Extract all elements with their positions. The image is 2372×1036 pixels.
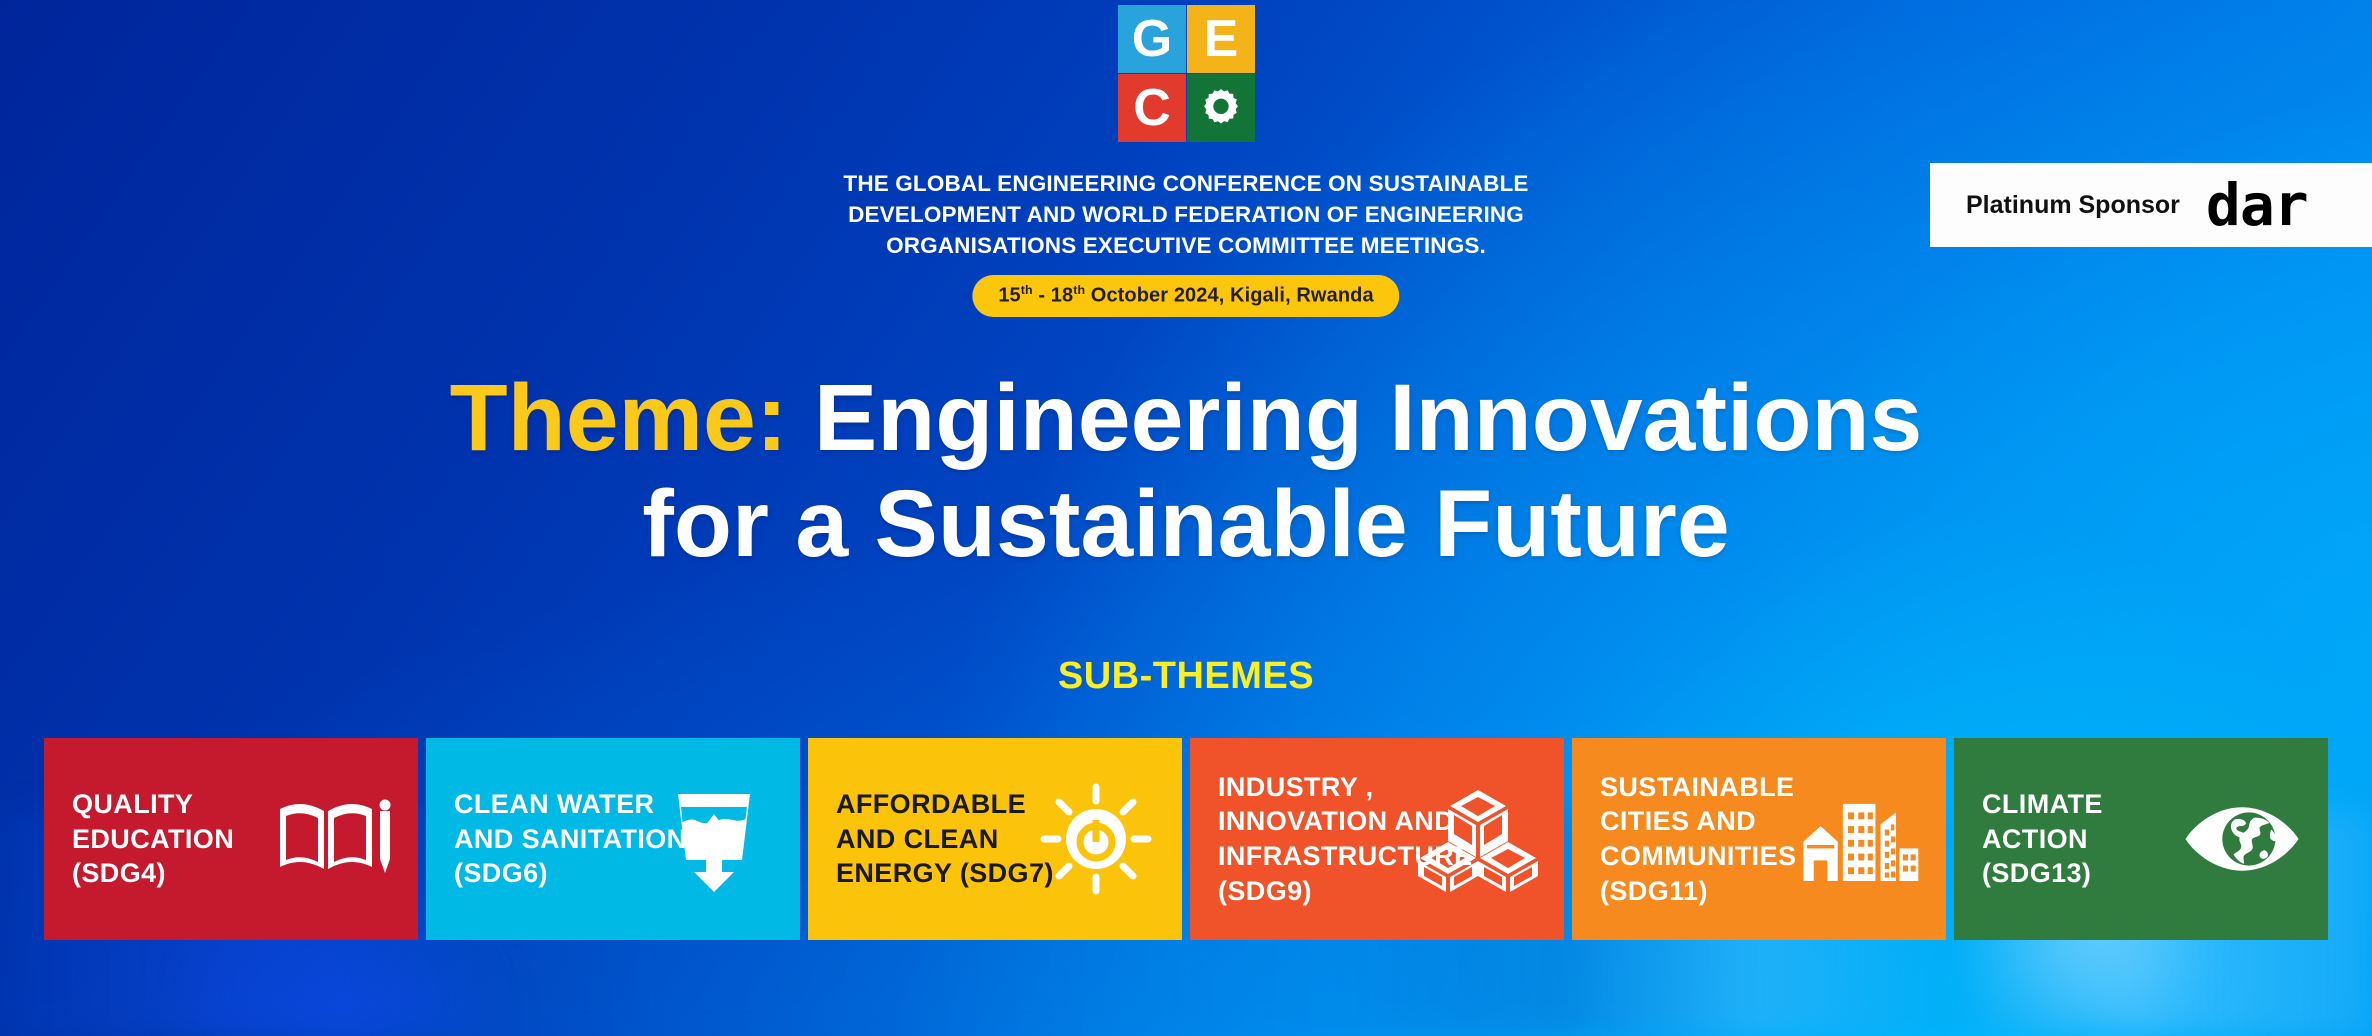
dar-logo: dar — [2206, 182, 2308, 228]
subtheme-card-sdg13-label: CLIMATE ACTION (SDG13) — [1982, 787, 2103, 891]
logo-tile-gear — [1187, 74, 1255, 142]
subtheme-card-sdg4[interactable]: QUALITY EDUCATION (SDG4) — [44, 738, 418, 940]
logo-tile-e: E — [1187, 5, 1255, 73]
gear-icon — [1199, 86, 1243, 130]
theme-line-1: Theme: Engineering Innovations — [0, 365, 2372, 471]
logo-letter-e: E — [1204, 13, 1239, 65]
theme-line-2: for a Sustainable Future — [0, 471, 2372, 577]
platinum-sponsor-banner: Platinum Sponsor dar — [1930, 163, 2372, 247]
date-day-from-suffix: th — [1021, 283, 1033, 297]
subtheme-card-sdg7-label: AFFORDABLE AND CLEAN ENERGY (SDG7) — [836, 787, 1054, 891]
conference-title: THE GLOBAL ENGINEERING CONFERENCE ON SUS… — [806, 168, 1566, 261]
subtheme-card-sdg9-label: INDUSTRY , INNOVATION AND INFRASTRUCTURE… — [1218, 770, 1473, 908]
conference-title-line-2: DEVELOPMENT AND WORLD FEDERATION OF ENGI… — [806, 199, 1566, 230]
logo-letter-c: C — [1133, 82, 1171, 134]
conference-title-line-3: ORGANISATIONS EXECUTIVE COMMITTEE MEETIN… — [806, 230, 1566, 261]
date-day-from: 15 — [998, 285, 1020, 307]
subtheme-cards: QUALITY EDUCATION (SDG4) CLEAN WATER AND… — [44, 738, 2328, 940]
subtheme-card-sdg11[interactable]: SUSTAINABLE CITIES AND COMMUNITIES (SDG1… — [1572, 738, 1946, 940]
date-rest: October 2024, Kigali, Rwanda — [1085, 285, 1374, 307]
subtheme-card-sdg11-label: SUSTAINABLE CITIES AND COMMUNITIES (SDG1… — [1600, 770, 1796, 908]
sponsor-label: Platinum Sponsor — [1966, 191, 2180, 220]
subtheme-card-sdg4-label: QUALITY EDUCATION (SDG4) — [72, 787, 234, 891]
subtheme-card-sdg6[interactable]: CLEAN WATER AND SANITATION (SDG6) — [426, 738, 800, 940]
conference-title-line-1: THE GLOBAL ENGINEERING CONFERENCE ON SUS… — [806, 168, 1566, 199]
subtheme-card-sdg9[interactable]: INDUSTRY , INNOVATION AND INFRASTRUCTURE… — [1190, 738, 1564, 940]
logo-tile-g: G — [1118, 5, 1186, 73]
geco-logo: G E C — [1118, 5, 1255, 142]
eye-globe-icon — [2182, 779, 2302, 899]
date-day-to: 18 — [1051, 285, 1073, 307]
date-separator: - — [1033, 285, 1051, 307]
date-day-to-suffix: th — [1073, 283, 1085, 297]
subtheme-card-sdg6-label: CLEAN WATER AND SANITATION (SDG6) — [454, 787, 687, 891]
sun-power-icon — [1036, 779, 1156, 899]
subtheme-card-sdg7[interactable]: AFFORDABLE AND CLEAN ENERGY (SDG7) — [808, 738, 1182, 940]
date-location-badge: 15th - 18th October 2024, Kigali, Rwanda — [972, 275, 1399, 317]
theme-keyword: Theme: — [450, 365, 788, 471]
book-pencil-icon — [272, 779, 392, 899]
theme-block: Theme: Engineering Innovations for a Sus… — [0, 365, 2372, 578]
theme-text-1: Engineering Innovations — [814, 365, 1922, 471]
subthemes-heading: SUB-THEMES — [0, 655, 2372, 698]
logo-letter-g: G — [1132, 13, 1172, 65]
logo-tile-c: C — [1118, 74, 1186, 142]
subtheme-card-sdg13[interactable]: CLIMATE ACTION (SDG13) — [1954, 738, 2328, 940]
cityscape-icon — [1800, 779, 1920, 899]
